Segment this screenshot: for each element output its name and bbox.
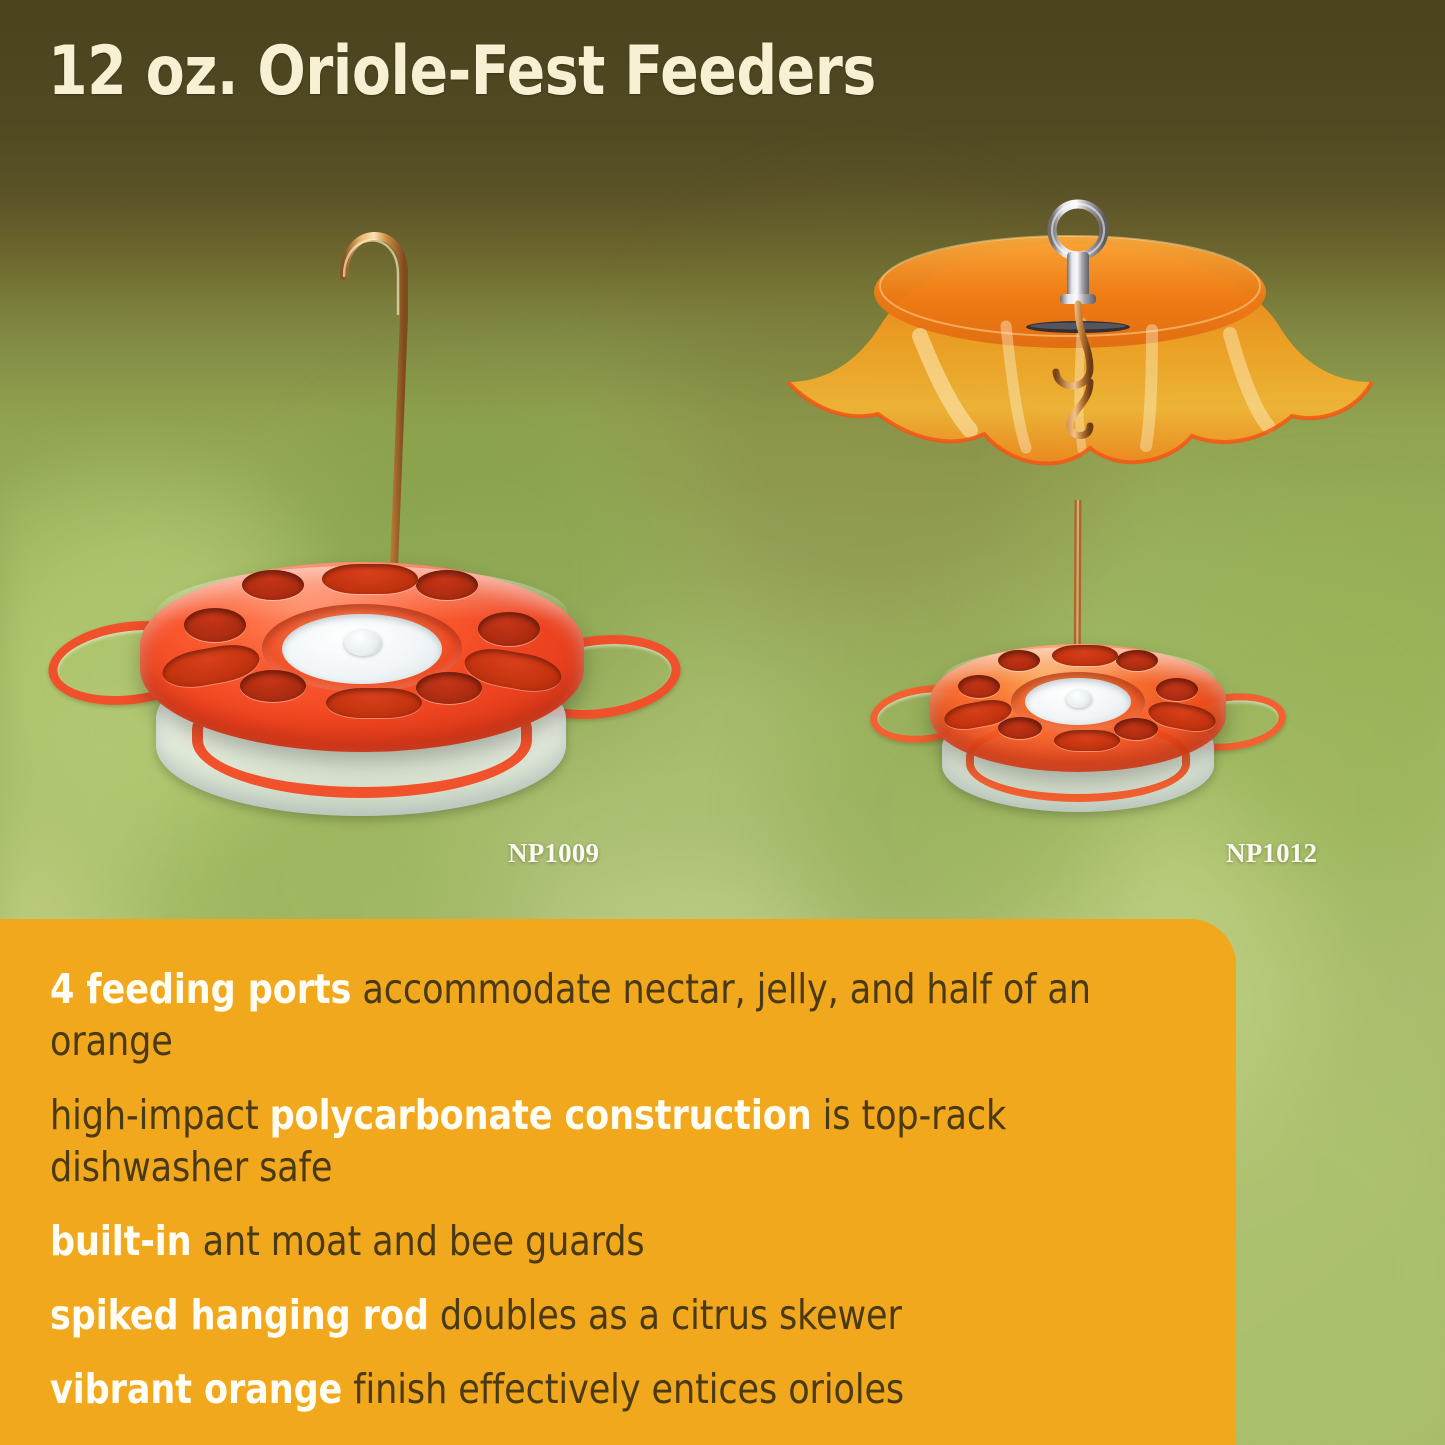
sku-label-np1012: NP1012: [1226, 838, 1317, 869]
feeding-port: [478, 612, 540, 646]
moat-cap: [1066, 690, 1092, 708]
feeding-port: [958, 675, 1000, 698]
perch-depression: [1054, 730, 1120, 751]
feeding-port: [998, 717, 1042, 739]
feeding-port: [416, 570, 478, 600]
perch-depression: [322, 564, 418, 594]
sku-label-np1009: NP1009: [508, 838, 599, 869]
feature-item-5: vibrant orange finish effectively entice…: [50, 1363, 1128, 1415]
feeding-port: [240, 670, 306, 702]
feature-item-1: 4 feeding ports accommodate nectar, jell…: [50, 963, 1128, 1067]
perch-depression: [1052, 645, 1118, 666]
feature-emphasis: spiked hanging rod: [50, 1291, 429, 1339]
feature-item-2: high-impact polycarbonate construction i…: [50, 1089, 1128, 1193]
feature-panel: 4 feeding ports accommodate nectar, jell…: [0, 919, 1236, 1445]
feature-lead: high-impact: [50, 1091, 270, 1139]
feeder-dish-np1012: [868, 640, 1288, 816]
moat-cap: [344, 630, 382, 656]
feature-item-4: spiked hanging rod doubles as a citrus s…: [50, 1289, 1128, 1341]
feature-rest: doubles as a citrus skewer: [429, 1291, 902, 1339]
feature-emphasis: built-in: [50, 1217, 192, 1265]
weather-dome: [760, 186, 1380, 516]
feature-list: 4 feeding ports accommodate nectar, jell…: [50, 963, 1185, 1437]
feature-item-3: built-in ant moat and bee guards: [50, 1215, 1128, 1267]
feeder-dish-np1009: [44, 556, 684, 816]
feeding-port: [184, 608, 246, 642]
page-title: 12 oz. Oriole-Fest Feeders: [48, 32, 876, 112]
feature-emphasis: vibrant orange: [50, 1365, 342, 1413]
perch-depression: [326, 688, 422, 718]
feeding-port: [242, 570, 304, 600]
product-feature-graphic: 12 oz. Oriole-Fest Feeders: [0, 0, 1445, 1445]
feeding-port: [1116, 650, 1158, 671]
feeding-port: [416, 672, 482, 704]
feature-rest: finish effectively entices orioles: [342, 1365, 904, 1413]
feature-emphasis: 4 feeding ports: [50, 965, 351, 1013]
feature-rest: ant moat and bee guards: [192, 1217, 645, 1265]
feeding-port: [1114, 718, 1158, 740]
feeding-port: [998, 650, 1040, 671]
feeding-port: [1156, 678, 1198, 701]
feature-emphasis: polycarbonate construction: [270, 1091, 812, 1139]
